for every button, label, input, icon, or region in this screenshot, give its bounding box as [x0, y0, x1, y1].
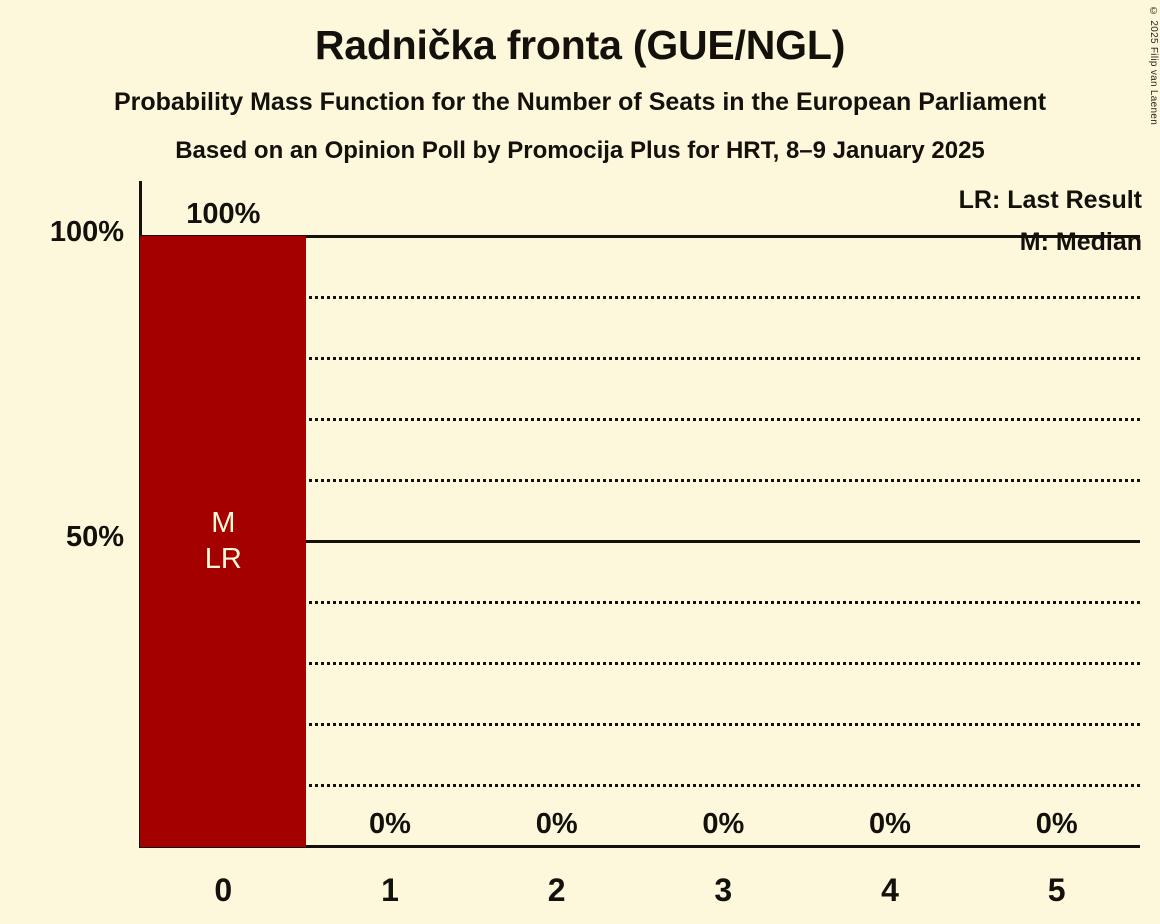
x-axis-tick-label-1: 1: [307, 872, 474, 909]
bar-value-label-1: 0%: [307, 808, 474, 841]
chart-canvas: Radnička fronta (GUE/NGL) Probability Ma…: [0, 0, 1160, 924]
legend-last-result: LR: Last Result: [959, 186, 1142, 215]
bar-value-label-3: 0%: [640, 808, 807, 841]
x-axis-tick-label-2: 2: [473, 872, 640, 909]
legend-median: M: Median: [1020, 228, 1142, 257]
x-axis-tick-label-4: 4: [807, 872, 974, 909]
bar-value-label-5: 0%: [973, 808, 1140, 841]
bar-value-label-0: 100%: [140, 198, 307, 231]
x-axis-tick-label-0: 0: [140, 872, 307, 909]
y-axis-tick-label: 50%: [66, 521, 124, 554]
bar-seat-0[interactable]: MLR: [140, 236, 306, 847]
y-axis-tick-label: 100%: [50, 216, 124, 249]
bar-value-label-4: 0%: [807, 808, 974, 841]
bar-marker-median: M: [140, 505, 306, 541]
copyright-notice: © 2025 Filip van Laenen: [1148, 6, 1159, 125]
x-axis-tick-label-3: 3: [640, 872, 807, 909]
chart-subtitle-source: Based on an Opinion Poll by Promocija Pl…: [0, 137, 1160, 165]
x-axis-tick-label-5: 5: [973, 872, 1140, 909]
chart-title: Radnička fronta (GUE/NGL): [0, 22, 1160, 69]
chart-subtitle-primary: Probability Mass Function for the Number…: [0, 88, 1160, 117]
bar-marker-group: MLR: [140, 505, 306, 577]
bar-marker-last-result: LR: [140, 541, 306, 577]
bar-value-label-2: 0%: [473, 808, 640, 841]
